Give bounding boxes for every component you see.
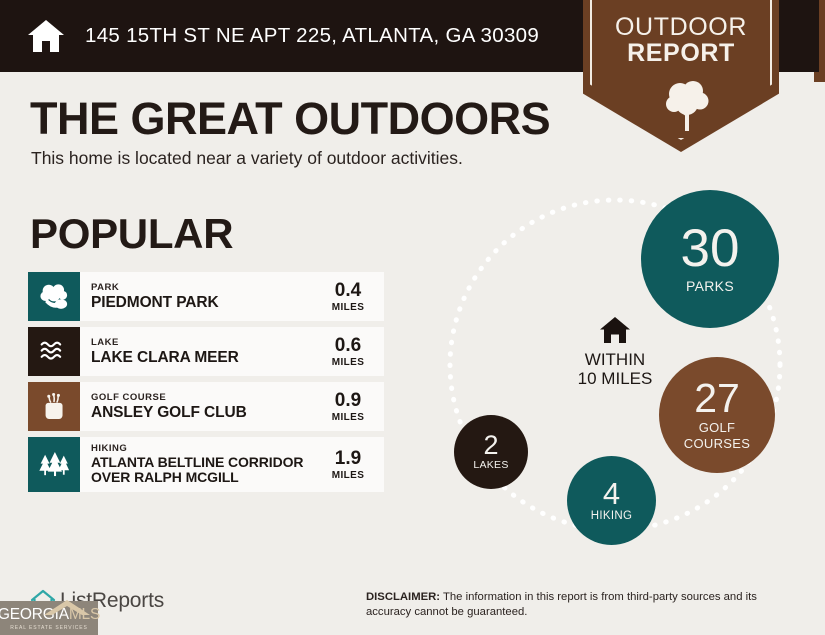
bubble-parks[interactable]: 30 PARKS [641, 190, 779, 328]
bubble-hiking-count: 4 [603, 479, 620, 508]
bubble-golf-label-line2: COURSES [684, 437, 750, 451]
distance-value: 0.9 [324, 391, 372, 410]
bubble-golf-label-line1: GOLF [699, 421, 736, 435]
home-icon [26, 18, 66, 54]
bubble-lakes-label: LAKES [473, 460, 508, 471]
popular-heading: POPULAR [30, 210, 233, 258]
list-item-name: LAKE CLARA MEER [91, 349, 324, 366]
center-line2: 10 MILES [539, 369, 691, 388]
outdoor-infographic: 30 PARKS 27 GOLF COURSES 2 LAKES 4 HIKIN… [415, 175, 815, 560]
page-subtitle: This home is located near a variety of o… [31, 148, 463, 169]
distance-unit: MILES [324, 302, 372, 313]
home-icon [598, 332, 632, 349]
pine-trees-icon [28, 437, 80, 492]
bubble-golf-count: 27 [694, 379, 740, 418]
bubble-hiking-label: HIKING [591, 510, 632, 522]
list-item[interactable]: GOLF COURSE ANSLEY GOLF CLUB 0.9 MILES [28, 382, 384, 431]
mls-tagline: REAL ESTATE SERVICES [10, 625, 88, 631]
list-item-distance: 0.4 MILES [324, 281, 384, 313]
disclaimer-label: DISCLAIMER: [366, 591, 440, 603]
badge-text: OUTDOOR REPORT [583, 14, 779, 66]
bubble-hiking[interactable]: 4 HIKING [567, 456, 656, 545]
list-item-name: ANSLEY GOLF CLUB [91, 404, 324, 421]
bubble-parks-count: 30 [681, 224, 740, 274]
badge-line2: REPORT [583, 40, 779, 66]
page-title: THE GREAT OUTDOORS [30, 93, 550, 145]
bubble-lakes-count: 2 [483, 433, 498, 459]
mls-roof-icon [42, 597, 92, 622]
water-waves-icon [28, 327, 80, 376]
list-item-category: PARK [91, 282, 324, 294]
distance-value: 1.9 [324, 449, 372, 468]
georgia-mls-logo[interactable]: GEORGIAMLS REAL ESTATE SERVICES [0, 601, 98, 635]
distance-unit: MILES [324, 357, 372, 368]
list-item-category: LAKE [91, 337, 324, 349]
infographic-center: WITHIN 10 MILES [539, 315, 691, 388]
list-item-name: ATLANTA BELTLINE CORRIDOR OVER RALPH MCG… [91, 455, 324, 486]
list-item-category: GOLF COURSE [91, 392, 324, 404]
list-item-distance: 1.9 MILES [324, 449, 384, 481]
list-item-category: HIKING [91, 443, 324, 455]
disclaimer: DISCLAIMER: The information in this repo… [366, 590, 786, 620]
distance-value: 0.4 [324, 281, 372, 300]
center-line1: WITHIN [539, 350, 691, 369]
list-item[interactable]: PARK PIEDMONT PARK 0.4 MILES [28, 272, 384, 321]
list-item-distance: 0.6 MILES [324, 336, 384, 368]
bubble-lakes[interactable]: 2 LAKES [454, 415, 528, 489]
distance-unit: MILES [324, 412, 372, 423]
golf-bag-icon [28, 382, 80, 431]
tree-icon [664, 78, 710, 137]
list-item[interactable]: LAKE LAKE CLARA MEER 0.6 MILES [28, 327, 384, 376]
distance-unit: MILES [324, 470, 372, 481]
property-address: 145 15TH ST NE APT 225, ATLANTA, GA 3030… [85, 24, 539, 48]
list-item-distance: 0.9 MILES [324, 391, 384, 423]
badge-line1: OUTDOOR [583, 14, 779, 40]
park-tree-icon [28, 272, 80, 321]
list-item[interactable]: HIKING ATLANTA BELTLINE CORRIDOR OVER RA… [28, 437, 384, 492]
distance-value: 0.6 [324, 336, 372, 355]
popular-list: PARK PIEDMONT PARK 0.4 MILES LAKE LAKE C [28, 272, 384, 498]
bubble-parks-label: PARKS [686, 279, 734, 294]
list-item-name: PIEDMONT PARK [91, 294, 324, 311]
